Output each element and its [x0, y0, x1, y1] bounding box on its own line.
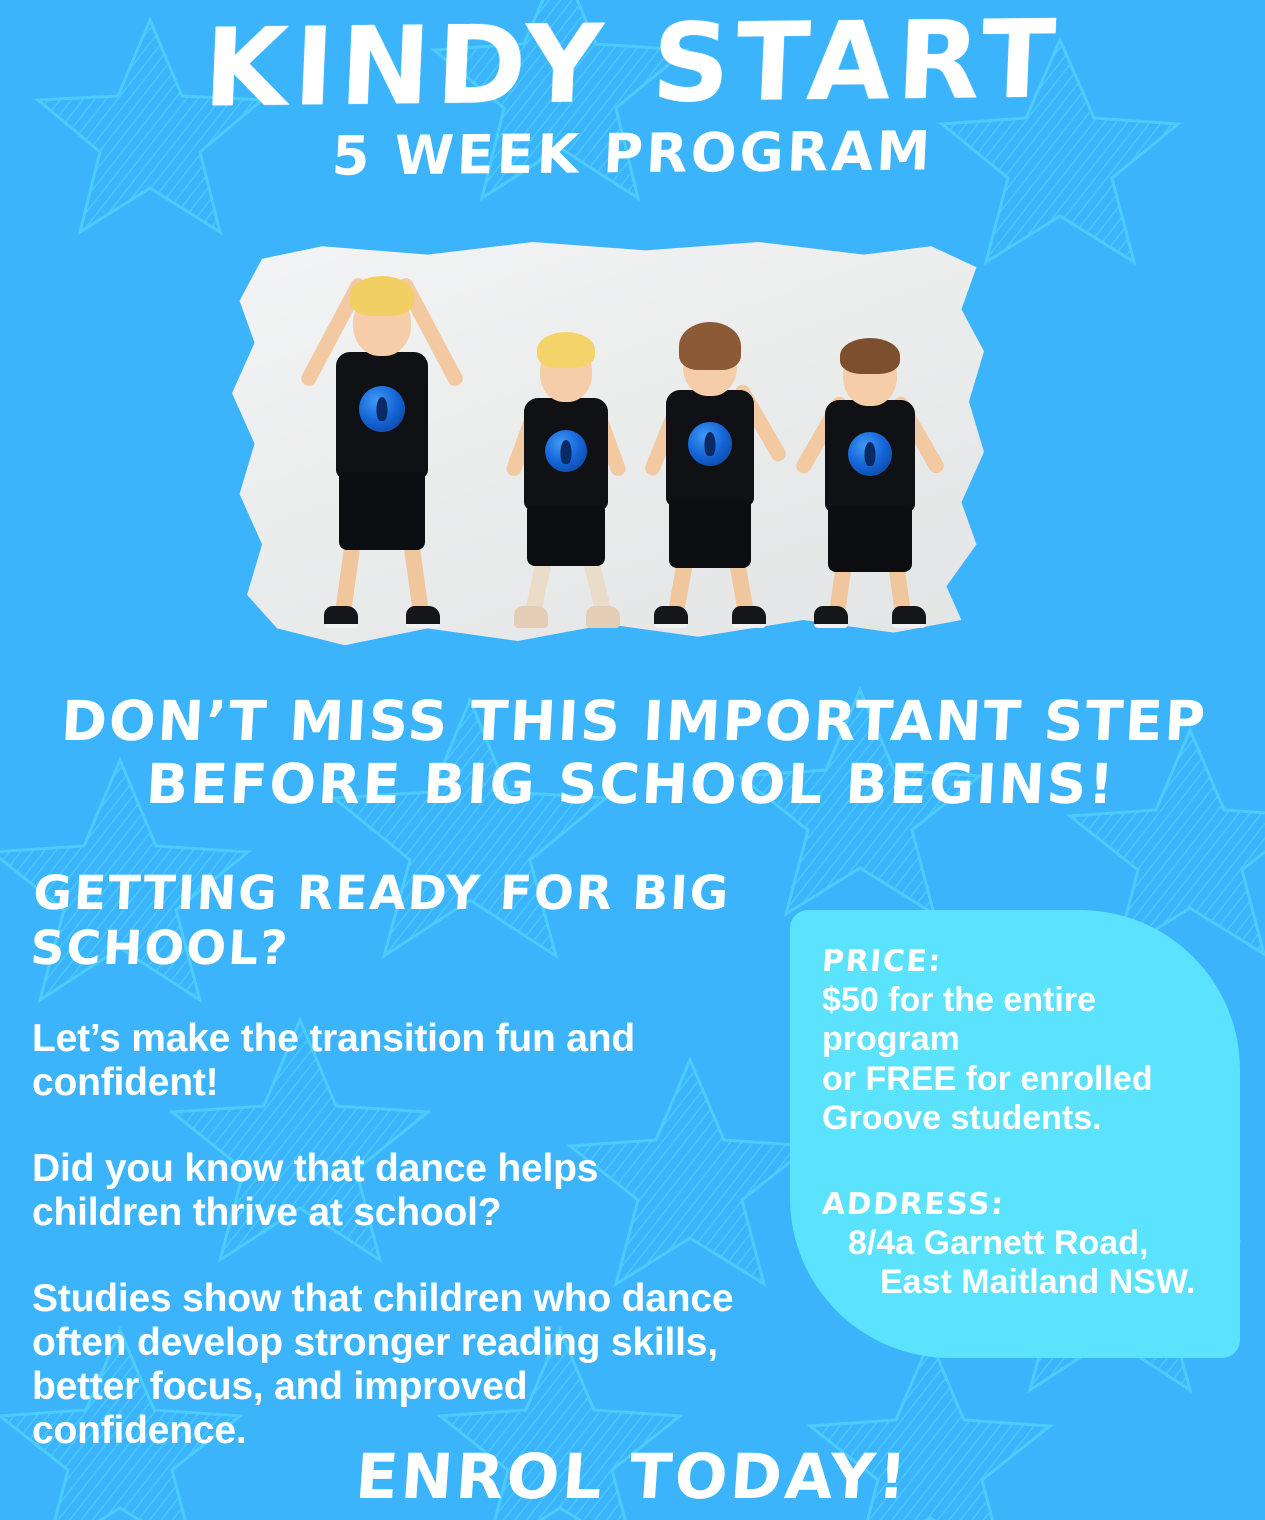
child-2-shoe-left: [514, 606, 548, 628]
body-paragraph-1: Let’s make the transition fun and confid…: [32, 1017, 748, 1105]
child-1-leg-left: [335, 544, 360, 612]
child-1-hair: [350, 276, 414, 316]
child-3-shoe-right: [732, 606, 766, 628]
cta-label: Enrol Today!: [353, 1440, 912, 1513]
page-title: Kindy Start: [0, 7, 1265, 123]
title-block: Kindy Start 5 Week Program: [0, 14, 1265, 181]
child-2-shoe-right: [586, 606, 620, 628]
child-1-leg-right: [403, 544, 428, 612]
address-line-1: 8/4a Garnett Road,: [848, 1224, 1148, 1262]
body-paragraph-2: Did you know that dance helps children t…: [32, 1147, 748, 1235]
price-line-4: Groove students.: [822, 1099, 1102, 1137]
shirt-logo-icon: [359, 386, 405, 432]
child-1-shoe-left: [324, 606, 358, 628]
shirt-logo-icon: [545, 430, 587, 472]
child-4-shoe-left: [814, 606, 848, 628]
price-line-2: program: [822, 1020, 960, 1058]
card-spacer: [822, 1139, 1212, 1187]
address-label: Address:: [821, 1187, 1213, 1222]
child-1-shoe-right: [406, 606, 440, 628]
child-2-hair: [537, 332, 595, 368]
child-3-shorts: [669, 500, 751, 568]
child-4-shorts: [828, 506, 912, 572]
address-value: 8/4a Garnett Road, East Maitland NSW.: [822, 1224, 1212, 1303]
poster-root: Kindy Start 5 Week Program: [0, 0, 1265, 1520]
headline: Don’t miss this important step before bi…: [0, 690, 1265, 815]
child-3-shoe-left: [654, 606, 688, 628]
price-value: $50 for the entire program or FREE for e…: [822, 981, 1212, 1139]
page-subtitle: 5 Week Program: [0, 121, 1265, 186]
body-column: Getting ready for big school? Let’s make…: [32, 866, 748, 1453]
address-line-2: East Maitland NSW.: [848, 1263, 1212, 1302]
child-figure-4: [812, 306, 928, 628]
price-line-1: $50 for the entire: [822, 981, 1096, 1019]
shirt-logo-icon: [848, 432, 892, 476]
shirt-logo-icon: [688, 422, 732, 466]
body-paragraph-3: Studies show that children who dance oft…: [32, 1277, 748, 1453]
child-figure-2: [510, 298, 622, 628]
child-2-shorts: [527, 506, 605, 566]
headline-line-2: before big school begins!: [0, 753, 1265, 816]
child-4-shoe-right: [892, 606, 926, 628]
child-figure-1: [322, 238, 442, 628]
child-figure-3: [652, 292, 768, 628]
child-4-hair: [840, 338, 900, 374]
price-label: Price:: [821, 944, 1213, 979]
child-3-hair: [679, 322, 741, 370]
price-address-card: Price: $50 for the entire program or FRE…: [790, 910, 1240, 1358]
headline-line-1: Don’t miss this important step: [0, 690, 1265, 753]
section-heading: Getting ready for big school?: [29, 866, 751, 977]
cta-enrol[interactable]: Enrol Today!: [0, 1440, 1265, 1513]
price-line-3: or FREE for enrolled: [822, 1060, 1153, 1098]
hero-photo: [232, 242, 984, 662]
child-1-shorts: [339, 472, 425, 550]
